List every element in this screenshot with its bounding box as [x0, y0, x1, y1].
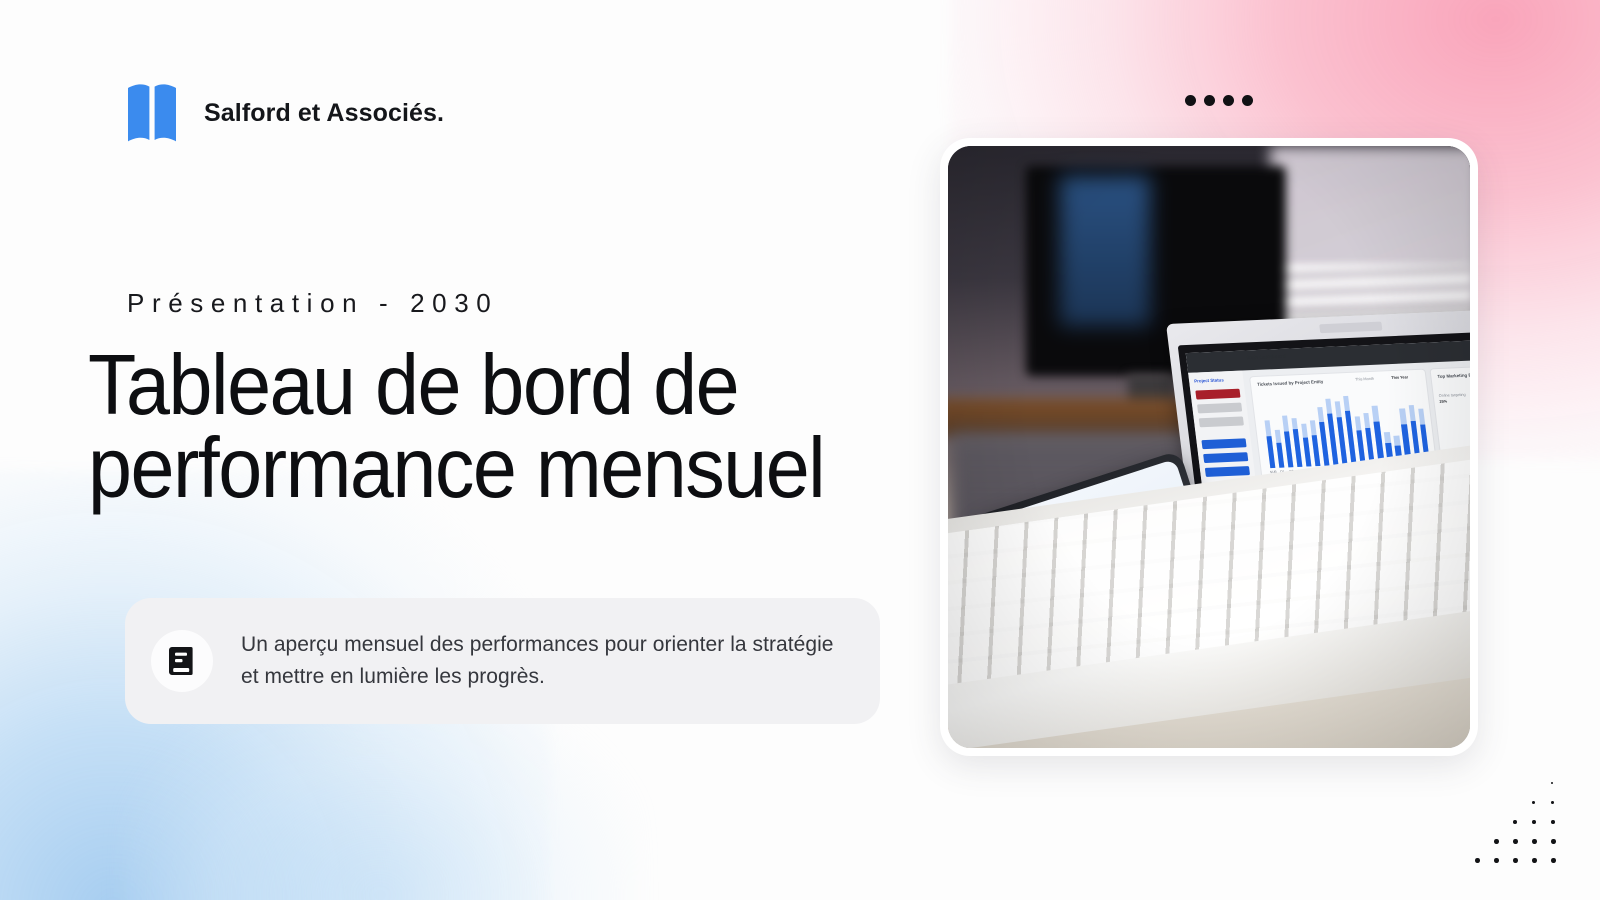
decorative-dot-grid	[1450, 768, 1570, 878]
dot	[1242, 95, 1253, 106]
hero-photo-frame: Project Status Main Dashboard Tickets Is…	[940, 138, 1478, 756]
brand-name: Salford et Associés.	[204, 99, 444, 128]
info-card-icon-badge	[151, 630, 213, 692]
photo-vignette	[948, 146, 1470, 748]
grid-dot	[1532, 839, 1537, 844]
grid-dot	[1475, 858, 1480, 863]
dot	[1204, 95, 1215, 106]
page-title: Tableau de bord de performance mensuel	[88, 344, 851, 511]
hero-photo: Project Status Main Dashboard Tickets Is…	[948, 146, 1470, 748]
grid-dot	[1513, 839, 1518, 844]
brand-lockup: Salford et Associés.	[126, 82, 444, 144]
grid-dot	[1551, 839, 1556, 844]
book-journal-icon	[168, 646, 196, 676]
decorative-dot-row	[1185, 95, 1253, 106]
grid-dot	[1551, 858, 1556, 863]
presentation-slide: Salford et Associés. Présentation - 2030…	[0, 0, 1600, 900]
grid-dot	[1513, 820, 1517, 824]
grid-dot	[1494, 858, 1499, 863]
grid-dot	[1532, 801, 1535, 804]
grid-dot	[1532, 820, 1536, 824]
grid-dot	[1513, 858, 1518, 863]
dot	[1223, 95, 1234, 106]
info-card-text: Un aperçu mensuel des performances pour …	[241, 629, 850, 693]
grid-dot	[1551, 782, 1553, 784]
open-book-logo-icon	[126, 82, 178, 144]
grid-dot	[1551, 820, 1555, 824]
slide-eyebrow: Présentation - 2030	[127, 288, 498, 319]
grid-dot	[1532, 858, 1537, 863]
dot	[1185, 95, 1196, 106]
grid-dot	[1551, 801, 1554, 804]
info-card: Un aperçu mensuel des performances pour …	[125, 598, 880, 724]
grid-dot	[1494, 839, 1499, 844]
